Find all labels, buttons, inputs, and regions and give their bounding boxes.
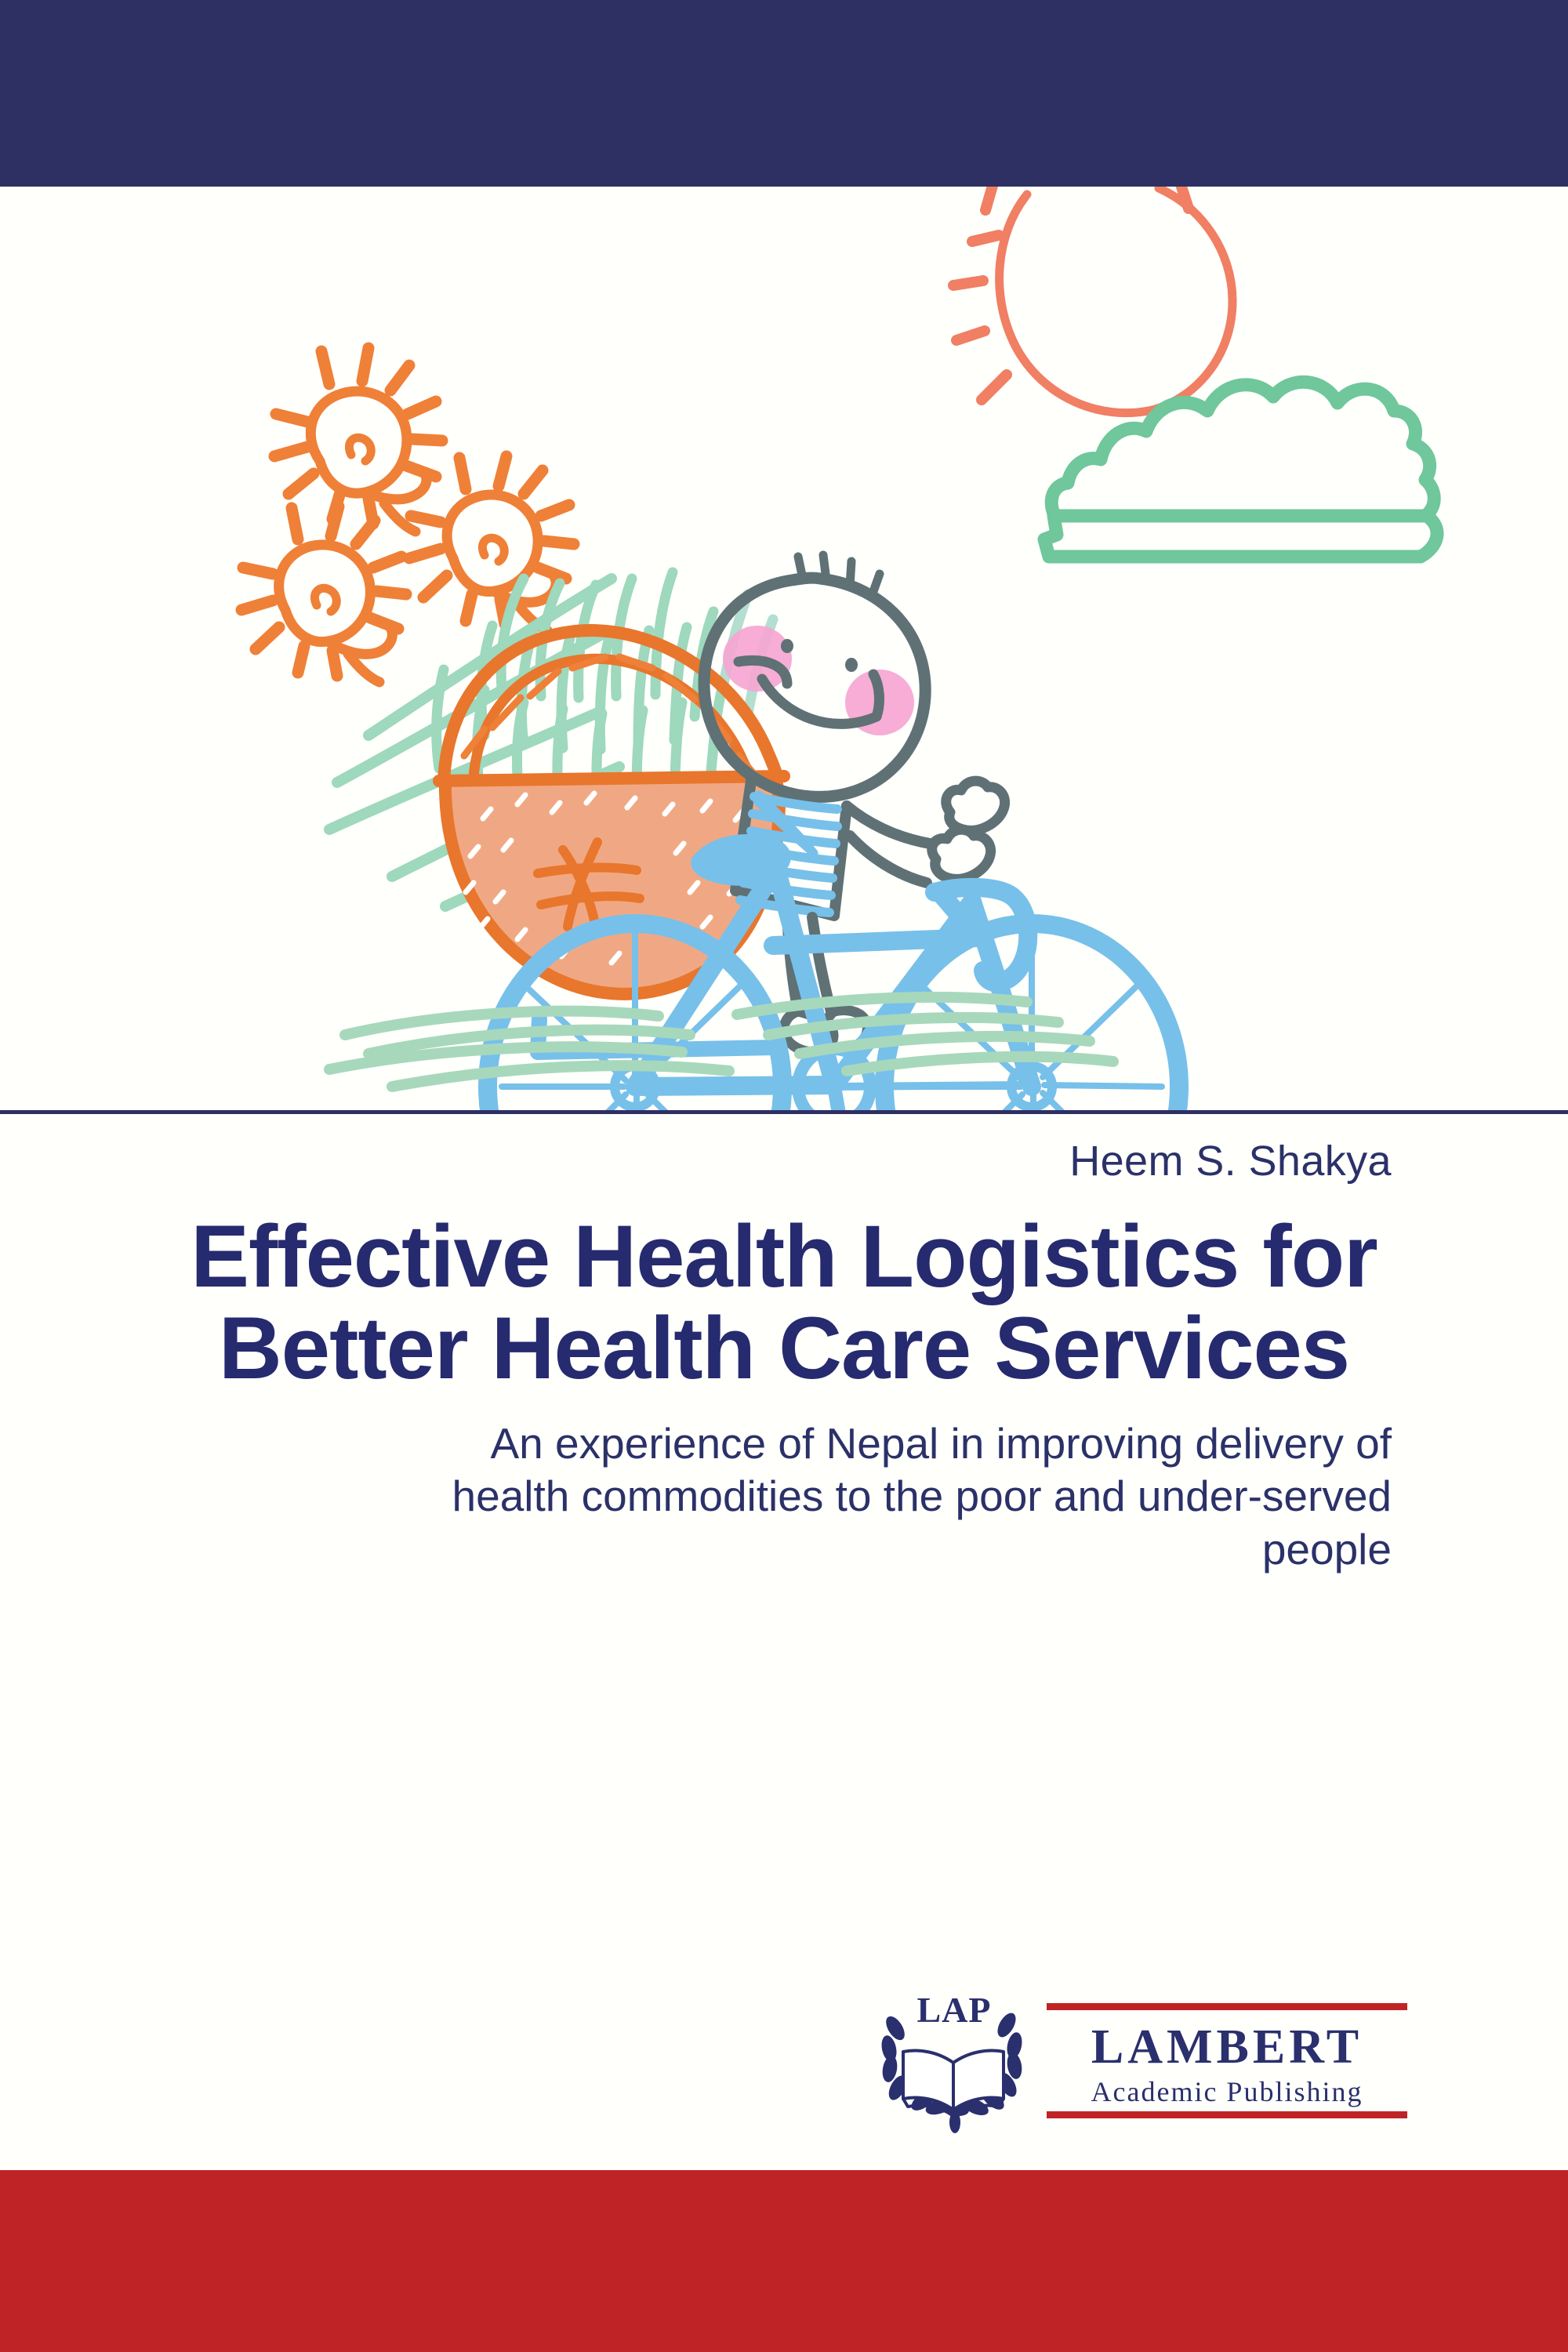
logo-rule-top — [1047, 2003, 1407, 2010]
book-subtitle-line-3: people — [176, 1523, 1392, 1576]
publisher-tagline: Academic Publishing — [1091, 2076, 1363, 2107]
header-divider — [0, 1110, 1568, 1114]
cover-text-block: Heem S. Shakya Effective Health Logistic… — [176, 1138, 1392, 1576]
publisher-name: LAMBERT — [1091, 2020, 1363, 2074]
author-name: Heem S. Shakya — [176, 1138, 1392, 1185]
cover-illustration: .orange { stroke:#ef8037; fill:none; str… — [0, 187, 1568, 1113]
book-subtitle-line-1: An experience of Nepal in improving deli… — [176, 1417, 1392, 1470]
top-color-band — [0, 0, 1568, 187]
book-subtitle-line-2: health commodities to the poor and under… — [176, 1470, 1392, 1523]
book-title: Effective Health Logistics for Better He… — [176, 1211, 1392, 1394]
book-title-line-1: Effective Health Logistics for — [176, 1211, 1392, 1302]
open-book-icon — [903, 2051, 1004, 2116]
publisher-logo: LAP LAMBERT Academic Publishing — [878, 1987, 1411, 2136]
logo-rule-bottom — [1047, 2111, 1407, 2118]
book-subtitle: An experience of Nepal in improving deli… — [176, 1417, 1392, 1575]
book-title-line-2: Better Health Care Services — [176, 1303, 1392, 1394]
sun-icon — [953, 187, 1232, 413]
bottom-color-band — [0, 2170, 1568, 2352]
publisher-monogram: LAP — [917, 1990, 992, 2030]
